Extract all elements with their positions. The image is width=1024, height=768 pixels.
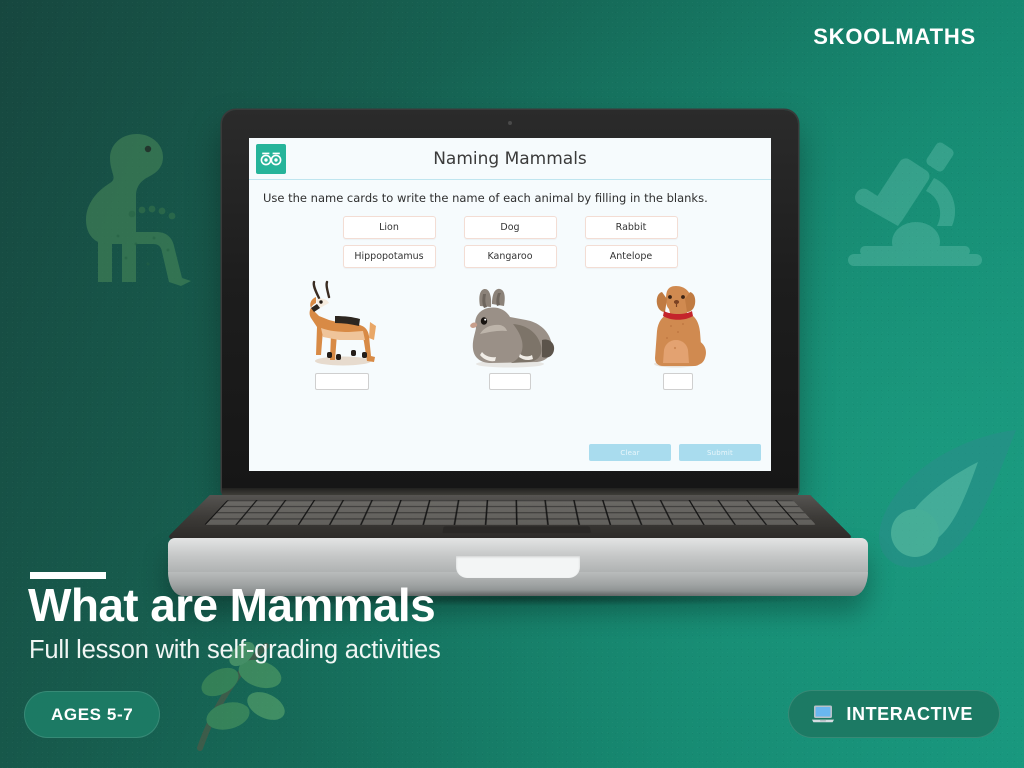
- clear-button[interactable]: Clear: [589, 444, 671, 461]
- webcam-icon: [508, 121, 512, 125]
- laptop-icon: [811, 704, 835, 724]
- name-card-column: Rabbit Antelope: [585, 216, 678, 268]
- rabbit-image: [458, 276, 562, 368]
- answer-input[interactable]: [315, 373, 369, 390]
- name-card[interactable]: Antelope: [585, 245, 678, 268]
- laptop-mockup: Naming Mammals Use the name cards to wri…: [168, 110, 868, 550]
- laptop-keyboard-area: [166, 495, 855, 539]
- name-card[interactable]: Rabbit: [585, 216, 678, 239]
- name-card-column: Lion Hippopotamus: [343, 216, 436, 268]
- animal-item: [450, 276, 570, 390]
- answer-input[interactable]: [663, 373, 693, 390]
- instruction-text: Use the name cards to write the name of …: [263, 191, 757, 207]
- lesson-app: Naming Mammals Use the name cards to wri…: [249, 138, 771, 471]
- app-title: Naming Mammals: [249, 149, 771, 169]
- laptop-screen: Naming Mammals Use the name cards to wri…: [249, 138, 771, 471]
- name-cards-group: Lion Hippopotamus Dog Kangaroo Rabbit An…: [249, 216, 771, 268]
- app-header: Naming Mammals: [249, 138, 771, 180]
- name-card[interactable]: Hippopotamus: [343, 245, 436, 268]
- comet-icon: [858, 428, 1018, 576]
- name-card[interactable]: Kangaroo: [464, 245, 557, 268]
- app-footer: Clear Submit: [249, 444, 771, 471]
- brand-logo-text: SKOOLMATHS: [813, 24, 976, 50]
- age-range-label: AGES 5-7: [51, 705, 133, 725]
- keyboard-keys: [204, 500, 816, 525]
- animal-items-group: [249, 276, 771, 390]
- interactive-label: INTERACTIVE: [846, 704, 973, 725]
- age-range-badge: AGES 5-7: [24, 691, 160, 738]
- name-card[interactable]: Dog: [464, 216, 557, 239]
- interactive-badge: INTERACTIVE: [788, 690, 1000, 738]
- trackpad: [442, 526, 591, 533]
- dog-image: [645, 276, 711, 368]
- laptop-latch: [456, 556, 580, 578]
- answer-input[interactable]: [489, 373, 531, 390]
- name-card[interactable]: Lion: [343, 216, 436, 239]
- page-title: What are Mammals: [28, 578, 435, 632]
- animal-item: [282, 276, 402, 390]
- antelope-image: [299, 276, 385, 368]
- animal-item: [618, 276, 738, 390]
- laptop-lid: Naming Mammals Use the name cards to wri…: [222, 110, 798, 495]
- submit-button[interactable]: Submit: [679, 444, 761, 461]
- page-subtitle: Full lesson with self-grading activities: [29, 636, 441, 665]
- name-card-column: Dog Kangaroo: [464, 216, 557, 268]
